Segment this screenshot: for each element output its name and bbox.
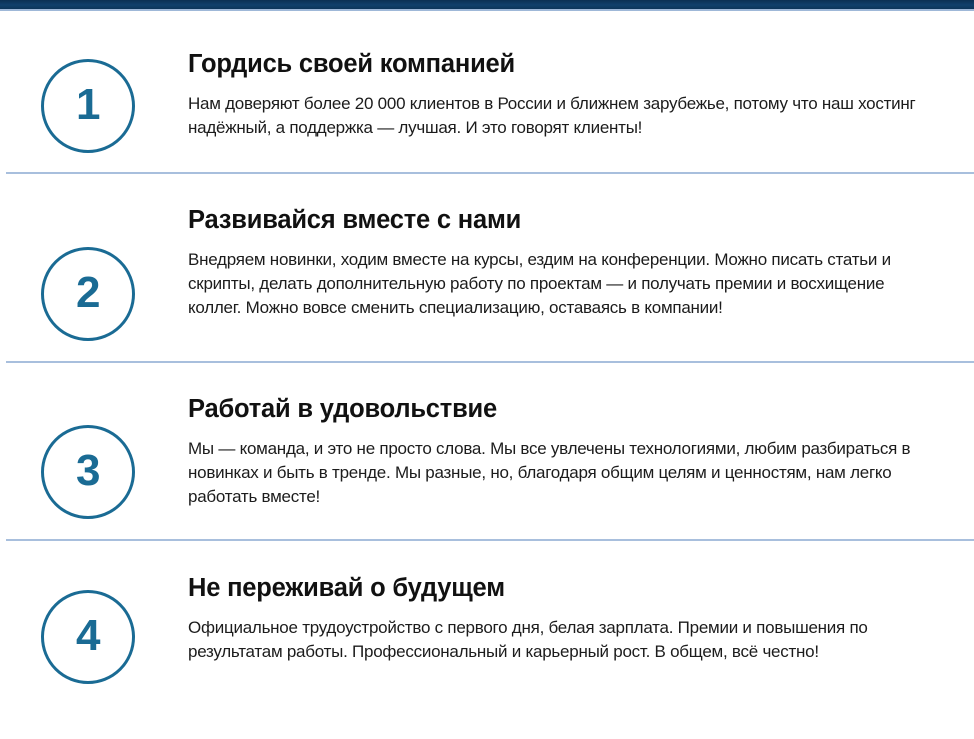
benefit-title: Развивайся вместе с нами bbox=[188, 206, 952, 235]
benefits-page: 1 Гордись своей компанией Нам доверяют б… bbox=[0, 0, 974, 739]
benefit-text-cell: Развивайся вместе с нами Внедряем новинк… bbox=[188, 204, 952, 320]
benefit-number: 3 bbox=[76, 449, 100, 493]
benefit-title: Не переживай о будущем bbox=[188, 574, 952, 603]
benefit-text-cell: Гордись своей компанией Нам доверяют бол… bbox=[188, 48, 952, 140]
benefit-body: Мы — команда, и это не просто слова. Мы … bbox=[188, 437, 940, 509]
benefit-text-cell: Работай в удовольствие Мы — команда, и э… bbox=[188, 393, 952, 509]
numbered-circle-icon: 2 bbox=[41, 247, 135, 341]
benefits-list: 1 Гордись своей компанией Нам доверяют б… bbox=[0, 11, 974, 694]
benefit-body: Нам доверяют более 20 000 клиентов в Рос… bbox=[188, 92, 940, 140]
benefit-body: Внедряем новинки, ходим вместе на курсы,… bbox=[188, 248, 940, 320]
benefit-title: Работай в удовольствие bbox=[188, 395, 952, 424]
benefit-number: 2 bbox=[76, 271, 100, 315]
list-item: 1 Гордись своей компанией Нам доверяют б… bbox=[0, 11, 974, 172]
benefit-body: Официальное трудоустройство с первого дн… bbox=[188, 616, 940, 664]
numbered-circle-icon: 4 bbox=[41, 590, 135, 684]
benefit-number: 1 bbox=[76, 83, 100, 127]
benefit-badge-cell: 1 bbox=[41, 48, 188, 153]
numbered-circle-icon: 1 bbox=[41, 59, 135, 153]
benefit-badge-cell: 4 bbox=[41, 572, 188, 684]
list-item: 2 Развивайся вместе с нами Внедряем нови… bbox=[0, 174, 974, 361]
numbered-circle-icon: 3 bbox=[41, 425, 135, 519]
benefit-text-cell: Не переживай о будущем Официальное трудо… bbox=[188, 572, 952, 664]
top-accent-bar bbox=[0, 0, 974, 9]
list-item: 4 Не переживай о будущем Официальное тру… bbox=[0, 541, 974, 694]
benefit-title: Гордись своей компанией bbox=[188, 50, 952, 79]
benefit-number: 4 bbox=[76, 614, 100, 658]
benefit-badge-cell: 3 bbox=[41, 393, 188, 519]
list-item: 3 Работай в удовольствие Мы — команда, и… bbox=[0, 363, 974, 539]
benefit-badge-cell: 2 bbox=[41, 204, 188, 341]
